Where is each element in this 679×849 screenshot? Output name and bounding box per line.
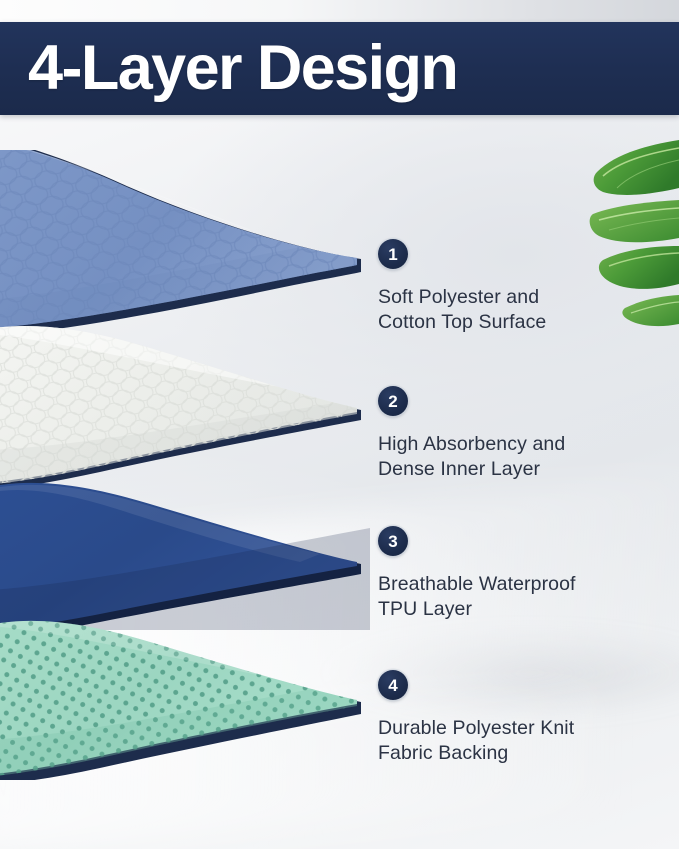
infographic-canvas: 4-Layer Design: [0, 0, 679, 849]
layer-number-badge-1: 1: [378, 239, 408, 269]
callout-2: 2 High Absorbency and Dense Inner Layer: [378, 386, 668, 481]
layer-label-3-line2: TPU Layer: [378, 597, 668, 622]
layer-label-4-line2: Fabric Backing: [378, 741, 668, 766]
layer-label-2: High Absorbency and Dense Inner Layer: [378, 432, 668, 481]
callout-3: 3 Breathable Waterproof TPU Layer: [378, 526, 668, 621]
layer-number-badge-3: 3: [378, 526, 408, 556]
callout-4: 4 Durable Polyester Knit Fabric Backing: [378, 670, 668, 765]
header-banner: 4-Layer Design: [0, 22, 679, 115]
layer-label-1-line1: Soft Polyester and: [378, 285, 668, 310]
layer-label-3-line1: Breathable Waterproof: [378, 572, 668, 597]
layer-label-1: Soft Polyester and Cotton Top Surface: [378, 285, 668, 334]
callout-1: 1 Soft Polyester and Cotton Top Surface: [378, 239, 668, 334]
layer-4-mint-knit-swatch: [0, 580, 370, 780]
layer-label-2-line2: Dense Inner Layer: [378, 457, 668, 482]
page-title: 4-Layer Design: [28, 37, 457, 100]
background-top-strip: [0, 0, 679, 23]
layer-label-2-line1: High Absorbency and: [378, 432, 668, 457]
layer-label-4-line1: Durable Polyester Knit: [378, 716, 668, 741]
layer-label-3: Breathable Waterproof TPU Layer: [378, 572, 668, 621]
layer-number-badge-2: 2: [378, 386, 408, 416]
layer-number-badge-4: 4: [378, 670, 408, 700]
layer-label-1-line2: Cotton Top Surface: [378, 310, 668, 335]
layer-label-4: Durable Polyester Knit Fabric Backing: [378, 716, 668, 765]
